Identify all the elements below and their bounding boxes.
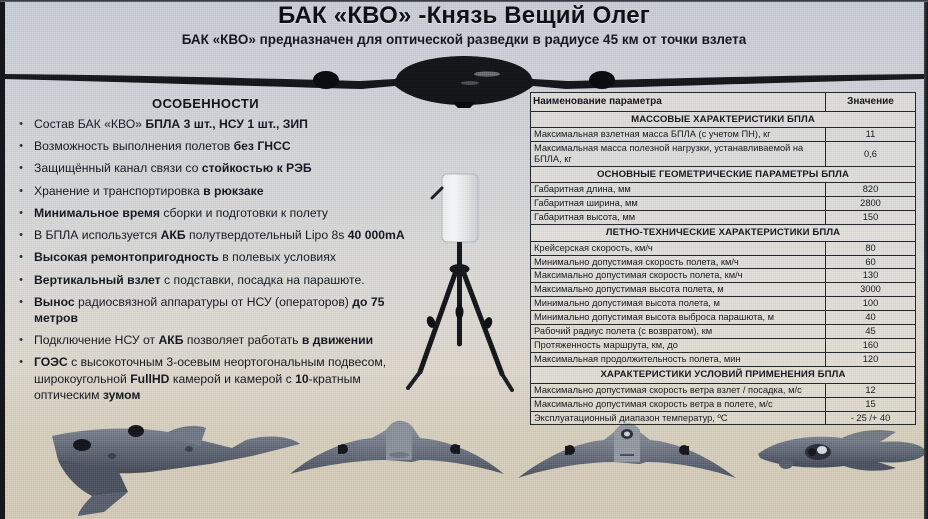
table-cell-value: - 25 /+ 40 [826, 411, 916, 425]
feature-item: •Высокая ремонтопригодность в полевых ус… [8, 249, 516, 265]
table-row: Габаритная ширина, мм2800 [531, 197, 916, 211]
slide-screenshot: БАК «КВО» -Князь Вещий Олег БАК «КВО» пр… [0, 0, 928, 519]
table-row: Протяженность маршрута, км, до160 [531, 339, 916, 353]
table-cell-parameter: Рабочий радиус полета (с возвратом), км [531, 325, 826, 339]
drone-photo-2 [290, 421, 504, 474]
feature-item-label: В БПЛА используется АКБ полутвердотельны… [34, 227, 516, 243]
table-row: Максимальная масса полезной нагрузки, ус… [531, 142, 916, 167]
table-row: Минимально допустимая скорость полета, к… [531, 255, 916, 269]
table-cell-parameter: Габаритная высота, мм [531, 211, 826, 225]
table-cell-parameter: Максимально допустимая скорость ветра вз… [531, 383, 826, 397]
table-cell-value: 60 [826, 255, 916, 269]
table-cell-value: 45 [826, 325, 916, 339]
feature-item: •Хранение и транспортировка в рюкзаке [8, 183, 516, 199]
drone-photo-4 [758, 430, 926, 471]
display-bezel-right [924, 0, 928, 519]
table-cell-value: 12 [826, 383, 916, 397]
feature-item: •Защищённый канал связи со стойкостью к … [8, 160, 516, 176]
bullet-icon: • [8, 227, 34, 243]
table-cell-value: 160 [826, 339, 916, 353]
table-cell-parameter: Крейсерская скорость, км/ч [531, 241, 826, 255]
bullet-icon: • [8, 205, 34, 221]
page-title: БАК «КВО» -Князь Вещий Олег [0, 2, 928, 30]
table-cell-parameter: Минимально допустимая высота полета, м [531, 297, 826, 311]
features-list: •Состав БАК «КВО» БПЛА 3 шт., НСУ 1 шт.,… [8, 116, 516, 409]
feature-item-label: Высокая ремонтопригодность в полевых усл… [34, 249, 516, 265]
table-cell-parameter: Габаритная ширина, мм [531, 197, 826, 211]
feature-item: •Подключение НСУ от АКБ позволяет работа… [8, 332, 516, 348]
table-cell-parameter: Максимально допустимая скорость ветра в … [531, 397, 826, 411]
table-cell-parameter: Максимальная масса полезной нагрузки, ус… [531, 142, 826, 167]
table-section-header-row: ЛЕТНО-ТЕХНИЧЕСКИЕ ХАРАКТЕРИСТИКИ БПЛА [531, 225, 916, 241]
feature-item-label: Минимальное время сборки и подготовки к … [34, 205, 516, 221]
drone-photo-strip [0, 412, 928, 519]
table-row: Минимально допустимая высота полета, м10… [531, 297, 916, 311]
table-cell-value: 3000 [826, 283, 916, 297]
table-cell-value: 130 [826, 269, 916, 283]
display-bezel-left [0, 0, 5, 519]
table-cell-parameter: Максимально допустимая высота полета, м [531, 283, 826, 297]
bullet-icon: • [8, 332, 34, 348]
table-cell-parameter: Протяженность маршрута, км, до [531, 339, 826, 353]
bullet-icon: • [8, 249, 34, 265]
table-cell-value: 2800 [826, 197, 916, 211]
drone-photo-3 [518, 423, 736, 478]
feature-item: •Возможность выполнения полетов без ГНСС [8, 138, 516, 154]
specifications-table: Наименование параметра Значение МАССОВЫЕ… [530, 92, 916, 425]
table-cell-parameter: Эксплуатационный диапазон температур, ºС [531, 411, 826, 425]
feature-item-label: Подключение НСУ от АКБ позволяет работат… [34, 332, 516, 348]
feature-item: •Вынос радиосвязной аппаратуры от НСУ (о… [8, 294, 516, 326]
bullet-icon: • [8, 294, 34, 310]
table-section-header-label: ХАРАКТЕРИСТИКИ УСЛОВИЙ ПРИМЕНЕНИЯ БПЛА [531, 367, 916, 383]
bullet-icon: • [8, 138, 34, 154]
feature-item: •Минимальное время сборки и подготовки к… [8, 205, 516, 221]
table-cell-value: 820 [826, 183, 916, 197]
table-cell-value: 40 [826, 311, 916, 325]
page-subtitle: БАК «КВО» предназначен для оптической ра… [0, 32, 928, 47]
table-row: Рабочий радиус полета (с возвратом), км4… [531, 325, 916, 339]
feature-item: •В БПЛА используется АКБ полутвердотельн… [8, 227, 516, 243]
feature-item-label: Хранение и транспортировка в рюкзаке [34, 183, 516, 199]
table-cell-value: 15 [826, 397, 916, 411]
table-section-header-label: ОСНОВНЫЕ ГЕОМЕТРИЧЕСКИЕ ПАРАМЕТРЫ БПЛА [531, 167, 916, 183]
table-cell-value: 11 [826, 128, 916, 142]
features-heading: ОСОБЕННОСТИ [152, 96, 259, 111]
feature-item: •ГОЭС с высокоточным 3-осевым неортогона… [8, 354, 516, 403]
bullet-icon: • [8, 183, 34, 199]
table-row: Минимально допустимая высота выброса пар… [531, 311, 916, 325]
feature-item-label: Состав БАК «КВО» БПЛА 3 шт., НСУ 1 шт., … [34, 116, 516, 132]
column-header-value: Значение [826, 93, 916, 112]
table-row: Максимально допустимая скорость ветра вз… [531, 383, 916, 397]
table-section-header-row: ОСНОВНЫЕ ГЕОМЕТРИЧЕСКИЕ ПАРАМЕТРЫ БПЛА [531, 167, 916, 183]
feature-item-label: ГОЭС с высокоточным 3-осевым неортогонал… [34, 354, 516, 403]
display-bezel-top [0, 0, 928, 2]
table-header-row: Наименование параметра Значение [531, 93, 916, 112]
table-cell-value: 150 [826, 211, 916, 225]
table-row: Максимальная продолжительность полета, м… [531, 353, 916, 367]
table-cell-value: 0,6 [826, 142, 916, 167]
table-cell-parameter: Максимальная взлетная масса БПЛА (с учет… [531, 128, 826, 142]
table-row: Максимальная взлетная масса БПЛА (с учет… [531, 128, 916, 142]
feature-item: •Вертикальный взлет с подставки, посадка… [8, 272, 516, 288]
bullet-icon: • [8, 354, 34, 370]
table-cell-value: 80 [826, 241, 916, 255]
table-row: Эксплуатационный диапазон температур, ºС… [531, 411, 916, 425]
table-row: Максимально допустимая высота полета, м3… [531, 283, 916, 297]
feature-item: •Состав БАК «КВО» БПЛА 3 шт., НСУ 1 шт.,… [8, 116, 516, 132]
table-cell-parameter: Минимально допустимая высота выброса пар… [531, 311, 826, 325]
table-cell-value: 100 [826, 297, 916, 311]
table-cell-value: 120 [826, 353, 916, 367]
table-cell-parameter: Габаритная длина, мм [531, 183, 826, 197]
column-header-parameter: Наименование параметра [531, 93, 826, 112]
bullet-icon: • [8, 116, 34, 132]
bullet-icon: • [8, 272, 34, 288]
table-row: Габаритная высота, мм150 [531, 211, 916, 225]
table-cell-parameter: Максимальная продолжительность полета, м… [531, 353, 826, 367]
bullet-icon: • [8, 160, 34, 176]
table-row: Габаритная длина, мм820 [531, 183, 916, 197]
feature-item-label: Вертикальный взлет с подставки, посадка … [34, 272, 516, 288]
feature-item-label: Возможность выполнения полетов без ГНСС [34, 138, 516, 154]
drone-photo-1 [52, 425, 300, 516]
table-row: Максимально допустимая скорость полета, … [531, 269, 916, 283]
table-section-header-label: МАССОВЫЕ ХАРАКТЕРИСТИКИ БПЛА [531, 111, 916, 127]
table-section-header-label: ЛЕТНО-ТЕХНИЧЕСКИЕ ХАРАКТЕРИСТИКИ БПЛА [531, 225, 916, 241]
table-row: Максимально допустимая скорость ветра в … [531, 397, 916, 411]
table-cell-parameter: Минимально допустимая скорость полета, к… [531, 255, 826, 269]
feature-item-label: Вынос радиосвязной аппаратуры от НСУ (оп… [34, 294, 516, 326]
table-row: Крейсерская скорость, км/ч80 [531, 241, 916, 255]
feature-item-label: Защищённый канал связи со стойкостью к Р… [34, 160, 516, 176]
table-section-header-row: МАССОВЫЕ ХАРАКТЕРИСТИКИ БПЛА [531, 111, 916, 127]
table-cell-parameter: Максимально допустимая скорость полета, … [531, 269, 826, 283]
table-section-header-row: ХАРАКТЕРИСТИКИ УСЛОВИЙ ПРИМЕНЕНИЯ БПЛА [531, 367, 916, 383]
